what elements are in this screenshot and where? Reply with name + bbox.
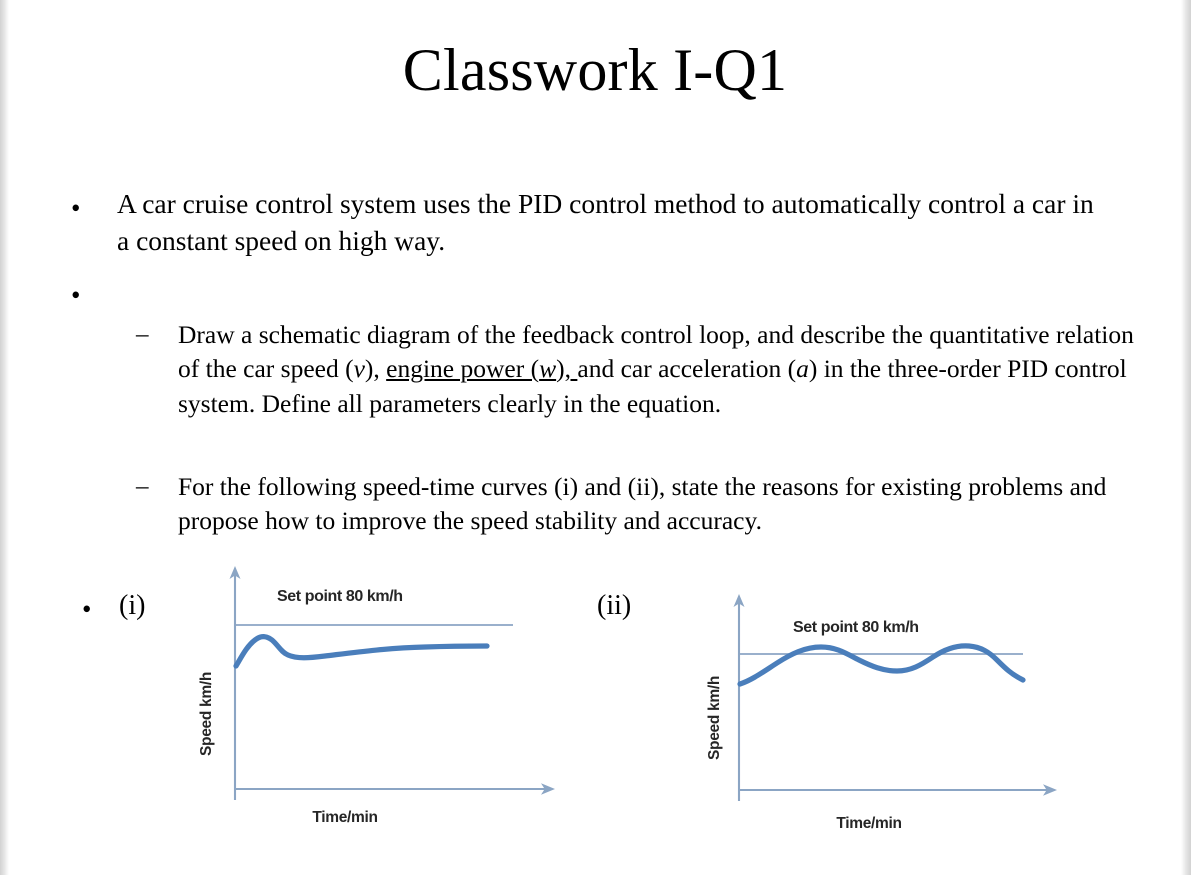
sub-bullet-text-1: Draw a schematic diagram of the feedback… [178, 318, 1136, 421]
chart-speed-time-ii: Set point 80 km/h Speed km/h Time/min [697, 588, 1107, 838]
y-axis [230, 566, 241, 800]
x-axis [739, 784, 1057, 796]
underlined-phrase: engine power (w), [386, 354, 577, 383]
variable-w: w [539, 354, 556, 383]
x-axis-label: Time/min [836, 815, 901, 832]
x-axis [235, 783, 555, 795]
y-axis [734, 594, 745, 801]
bullet-text-main: A car cruise control system uses the PID… [117, 186, 1101, 259]
page-edge-left [0, 0, 9, 875]
dash-marker-icon: – [136, 470, 178, 504]
slide-canvas: Classwork I-Q1 • A car cruise control sy… [9, 0, 1181, 875]
bullet-marker-icon: • [71, 273, 117, 309]
bullet-marker-icon: • [82, 596, 91, 623]
underlined-end: ), [556, 354, 577, 383]
setpoint-label: Set point 80 km/h [277, 588, 403, 605]
page-title: Classwork I-Q1 [9, 38, 1181, 103]
dash-marker-icon: – [136, 318, 178, 352]
x-axis-label: Time/min [312, 809, 377, 826]
bullet-marker-icon: • [71, 186, 117, 222]
variable-a: a [796, 354, 809, 383]
sub-bullet-item-1: – Draw a schematic diagram of the feedba… [136, 318, 1136, 421]
y-axis-label: Speed km/h [198, 672, 215, 756]
y-axis-label: Speed km/h [706, 676, 723, 760]
chart-speed-time-i: Set point 80 km/h Speed km/h Time/min [185, 560, 585, 835]
underlined-start: engine power ( [386, 354, 539, 383]
page-edge-right [1181, 0, 1191, 875]
figure-label-i: (i) [119, 592, 145, 620]
bullet-item-main: • A car cruise control system uses the P… [71, 186, 1101, 259]
sub-bullet-item-2: – For the following speed-time curves (i… [136, 470, 1136, 539]
variable-v: v [354, 354, 365, 383]
setpoint-label: Set point 80 km/h [793, 619, 919, 636]
sub-bullet-1-part2: ), [365, 354, 386, 383]
figure-label-ii: (ii) [597, 592, 631, 620]
sub-bullet-1-part3: and car acceleration ( [577, 354, 796, 383]
speed-response-curve [740, 646, 1023, 684]
bullet-item-empty: • [71, 273, 571, 307]
speed-response-curve [236, 637, 487, 666]
sub-bullet-text-2: For the following speed-time curves (i) … [178, 470, 1136, 539]
